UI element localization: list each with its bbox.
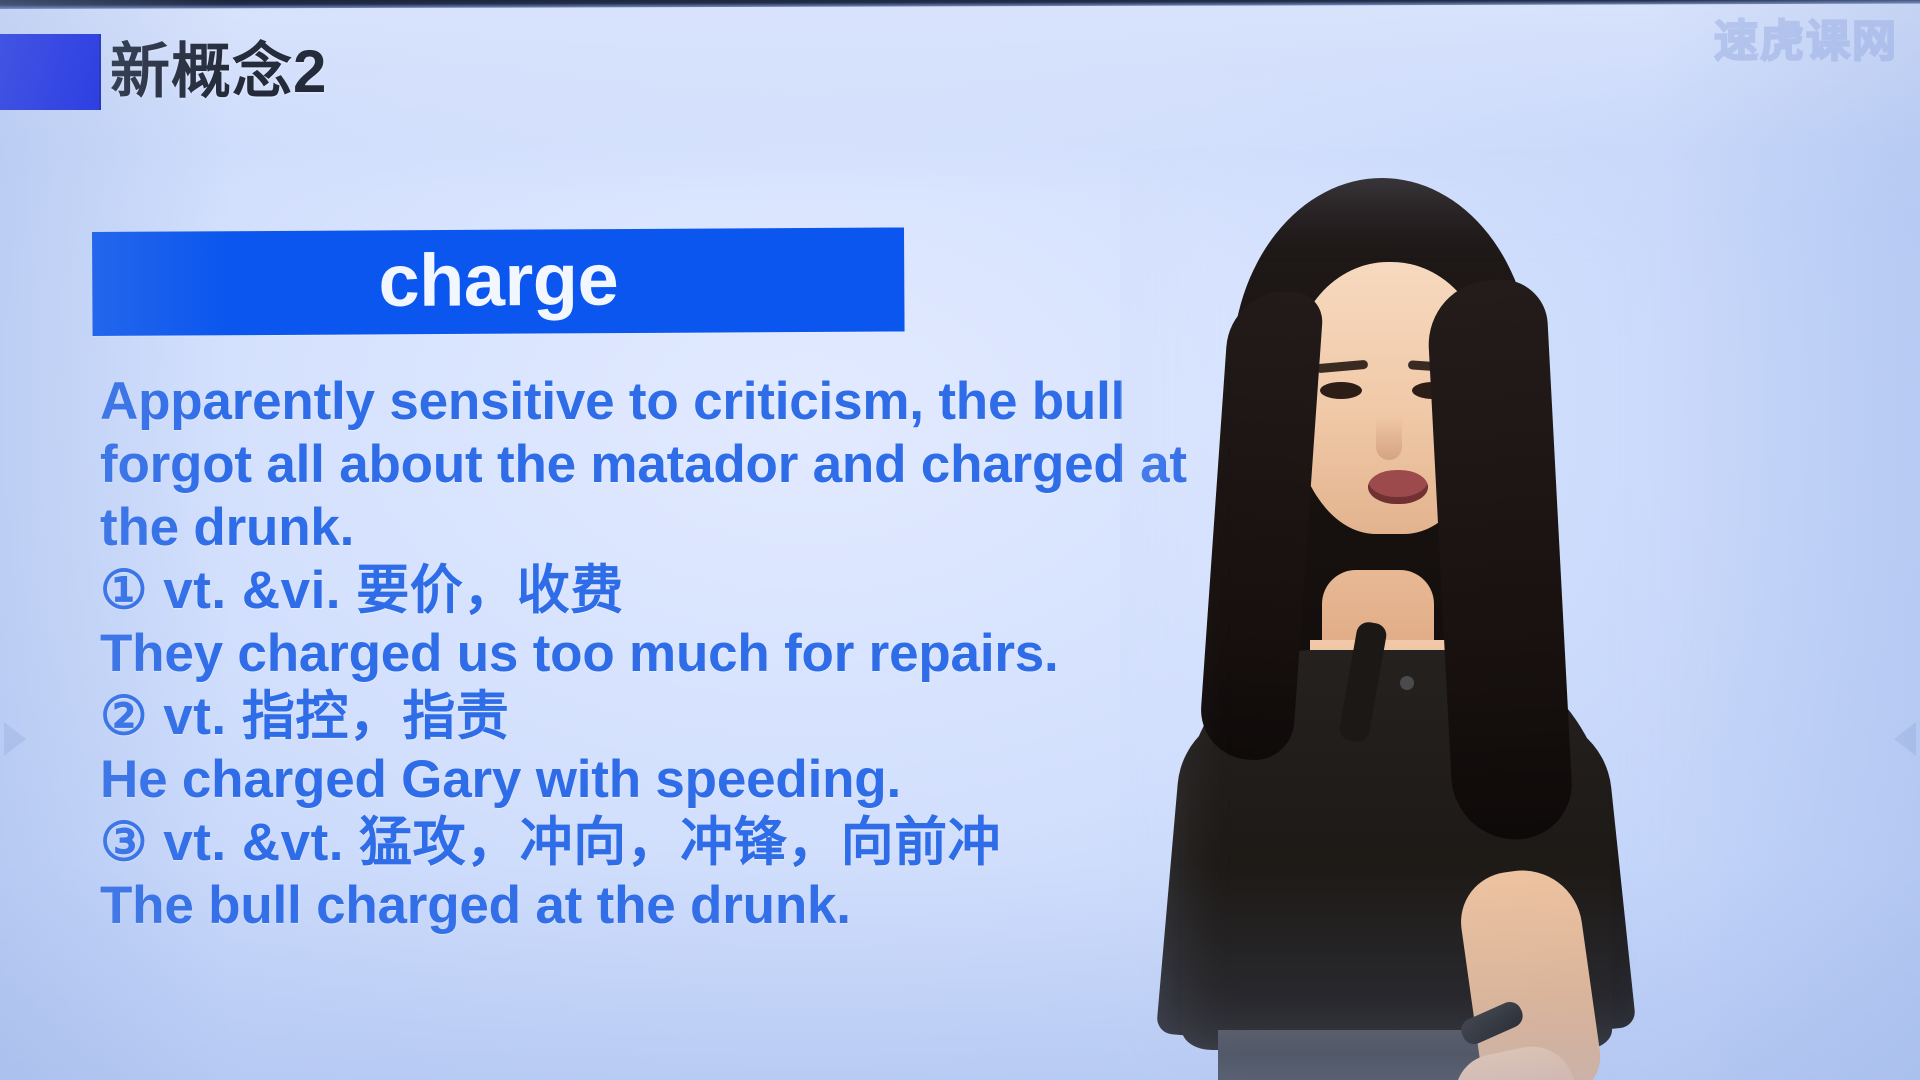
triangle-right-icon[interactable] [4,722,26,756]
frame-vignette [0,0,1920,1080]
triangle-left-icon[interactable] [1894,722,1916,756]
video-frame: 新概念2 速虎课网 charge Apparently sensitive to… [0,0,1920,1080]
